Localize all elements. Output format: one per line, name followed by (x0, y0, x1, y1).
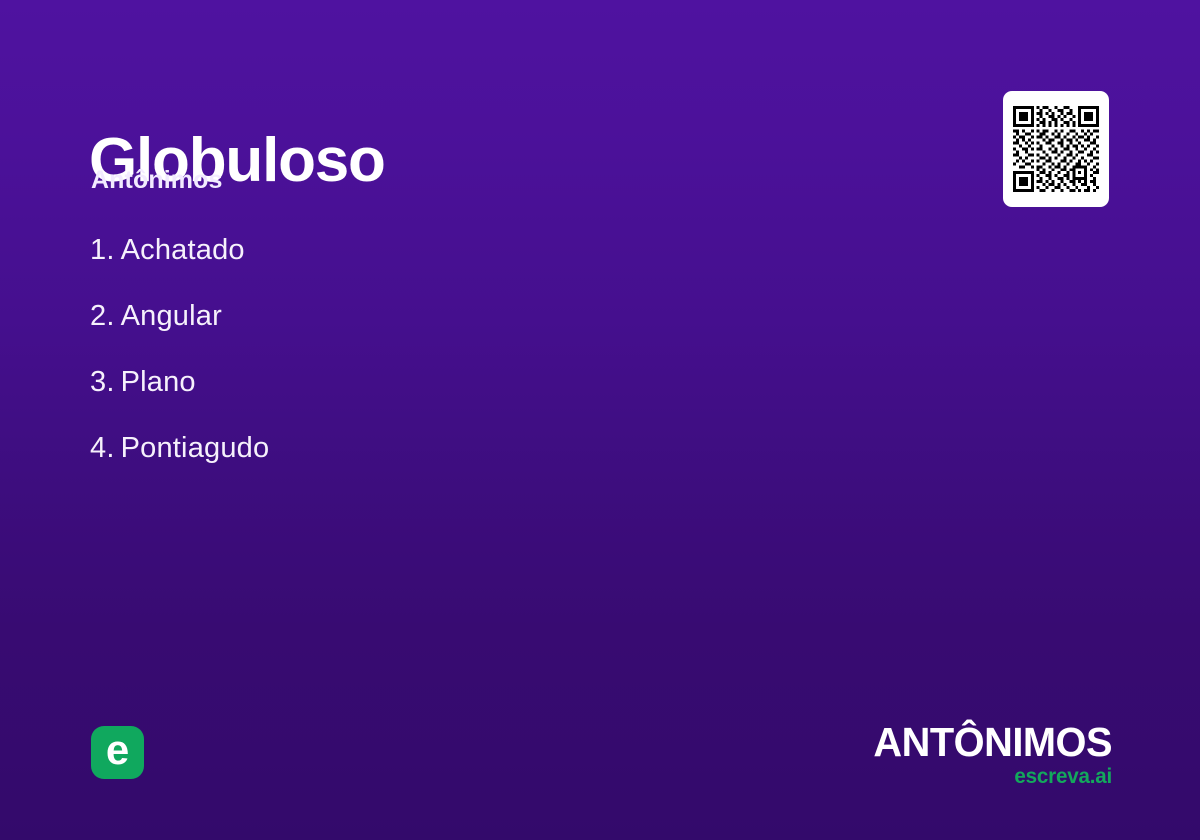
list-item: 4.Pontiagudo (90, 434, 269, 463)
list-item-label: Plano (121, 366, 196, 398)
qr-code-card[interactable] (1003, 91, 1109, 207)
list-item-label: Angular (121, 300, 222, 332)
list-item-number: 4. (90, 432, 115, 464)
list-item-number: 3. (90, 366, 115, 398)
escreva-e-logo-icon[interactable]: e (91, 726, 144, 779)
list-item: 2.Angular (90, 302, 269, 331)
qr-code-icon (1013, 106, 1099, 192)
list-item-number: 1. (90, 234, 115, 266)
list-item-label: Pontiagudo (121, 432, 270, 464)
antonyms-card: Globuloso Antônimos 1.Achatado 2.Angular… (0, 0, 1200, 840)
category-label: Antônimos (91, 168, 222, 193)
list-item: 3.Plano (90, 368, 269, 397)
e-glyph: e (106, 729, 129, 771)
brand-site: escreva.ai (871, 766, 1112, 787)
list-item-number: 2. (90, 300, 115, 332)
list-item: 1.Achatado (90, 236, 269, 265)
list-item-label: Achatado (121, 234, 245, 266)
antonyms-list: 1.Achatado 2.Angular 3.Plano 4.Pontiagud… (90, 236, 269, 500)
brand-name: ANTÔNIMOS (873, 722, 1112, 763)
brand-lockup: ANTÔNIMOS escreva.ai (866, 722, 1112, 787)
